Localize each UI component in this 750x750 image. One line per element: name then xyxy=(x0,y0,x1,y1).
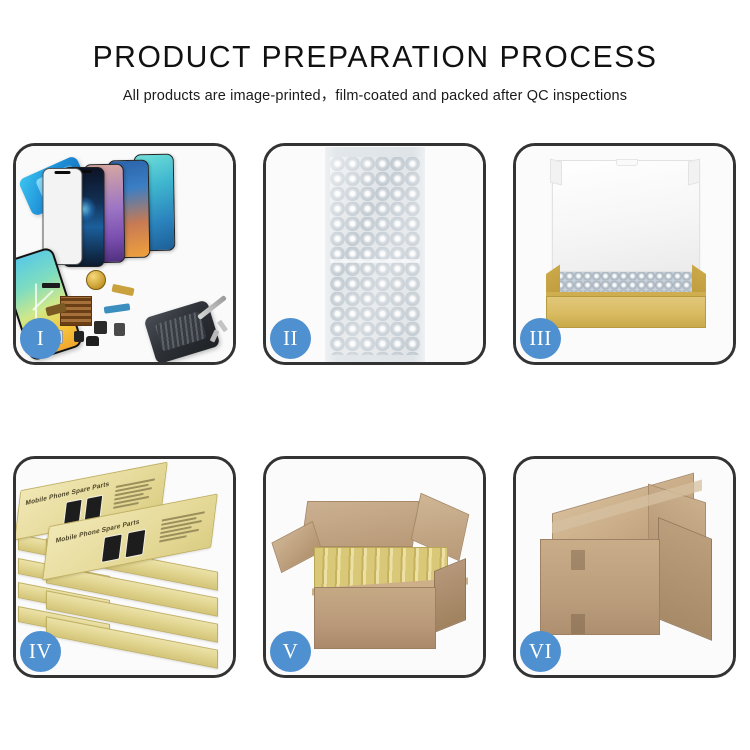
step-badge-5: V xyxy=(270,631,311,672)
step-badge-2: II xyxy=(270,318,311,359)
open-carton-icon xyxy=(314,587,436,649)
small-part-icon xyxy=(74,331,84,342)
step-panel-2: II xyxy=(263,143,486,365)
inner-box-icon xyxy=(546,296,706,328)
header: PRODUCT PREPARATION PROCESS All products… xyxy=(0,0,750,105)
bubble-wrap-sleeve-icon xyxy=(325,147,425,362)
step-panel-3: III xyxy=(513,143,736,365)
step-badge-1: I xyxy=(20,318,61,359)
earpiece-component-icon xyxy=(42,283,60,288)
step-badge-4: IV xyxy=(20,631,61,672)
step-badge-6: VI xyxy=(520,631,561,672)
phone-screens-group xyxy=(43,155,198,267)
step-badge-3: III xyxy=(520,318,561,359)
infographic-page: PRODUCT PREPARATION PROCESS All products… xyxy=(0,0,750,750)
step-panel-1: I xyxy=(13,143,236,365)
page-subtitle: All products are image-printed，film-coat… xyxy=(0,84,750,105)
speaker-component-icon xyxy=(86,270,106,290)
step-panel-4: Mobile Phone Spare Parts xyxy=(13,456,236,678)
battery-connector-icon xyxy=(114,323,125,336)
camera-module-icon xyxy=(94,321,107,334)
vibrator-icon xyxy=(86,336,99,346)
page-title: PRODUCT PREPARATION PROCESS xyxy=(11,39,739,75)
step-panel-6: VI xyxy=(513,456,736,678)
process-steps-grid: I II xyxy=(13,143,737,678)
sealed-carton-icon xyxy=(540,539,660,635)
step-panel-5: V xyxy=(263,456,486,678)
box-lid-icon xyxy=(552,160,700,272)
